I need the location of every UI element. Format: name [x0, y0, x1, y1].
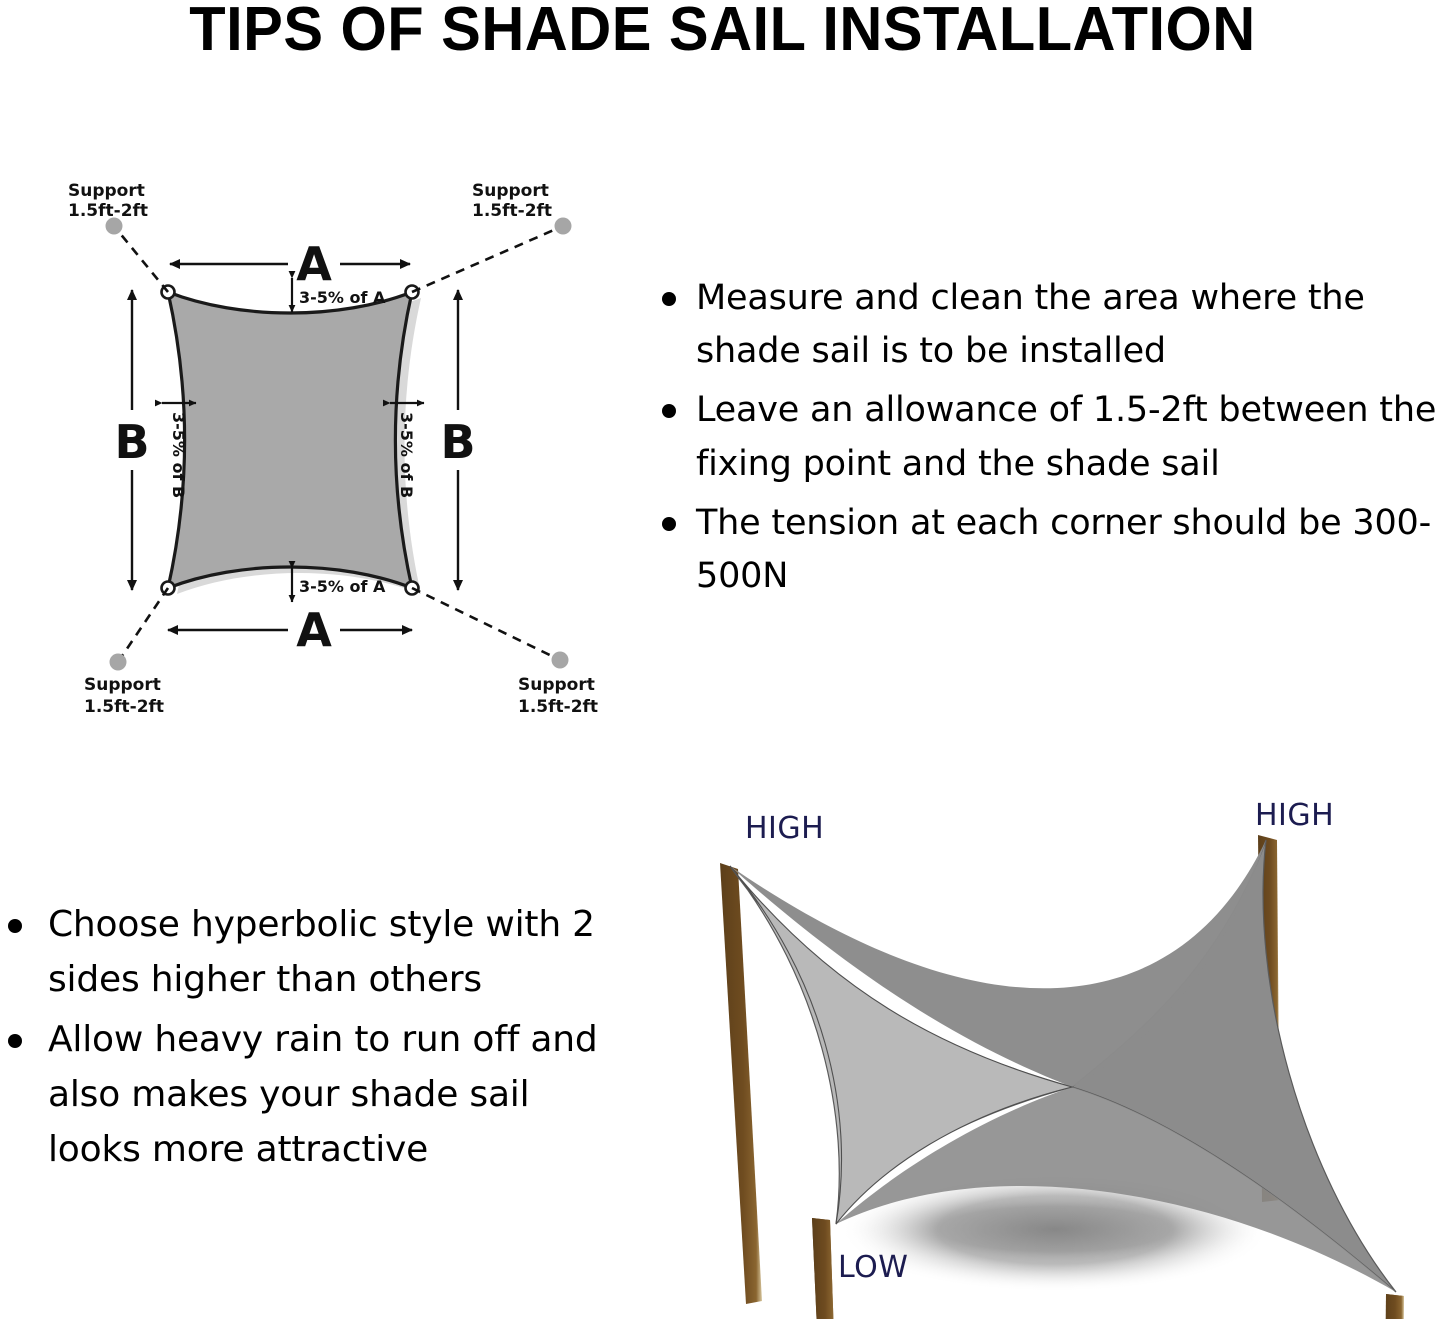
tips-list-left: Choose hyperbolic style with 2 sides hig…: [2, 898, 622, 1184]
post-label-high-right: HIGH: [1255, 798, 1334, 833]
curve-label-top: 3-5% of A: [299, 288, 386, 307]
infographic-root: TIPS OF SHADE SAIL INSTALLATION: [0, 0, 1445, 1319]
page-title: TIPS OF SHADE SAIL INSTALLATION: [29, 0, 1416, 62]
support-label-bottom-left-line1: Support: [84, 675, 161, 695]
square-sail-diagram: Support 1.5ft-2ft Support 1.5ft-2ft Supp…: [40, 160, 640, 740]
tension-line-top-left: [114, 226, 168, 292]
curve-label-bottom: 3-5% of A: [299, 577, 386, 596]
post-front-left-front: [812, 1218, 836, 1319]
anchor-dot-bottom-left: [110, 654, 127, 671]
post-back-left: [720, 863, 762, 1304]
support-label-top-right-line1: Support: [472, 181, 549, 201]
support-label-bottom-right-line2: 1.5ft-2ft: [518, 697, 598, 717]
anchor-dot-bottom-right: [552, 652, 569, 669]
support-label-bottom-right-line1: Support: [518, 675, 595, 695]
tension-line-top-right: [412, 226, 563, 292]
dim-label-right-B: B: [440, 415, 475, 469]
curve-label-right: 3-5% of B: [397, 412, 416, 498]
dim-label-left-B: B: [114, 415, 149, 469]
support-label-top-left-line2: 1.5ft-2ft: [68, 201, 148, 221]
support-label-top-left-line1: Support: [68, 181, 145, 201]
post-label-low-left: LOW: [838, 1250, 908, 1285]
tip-item: Measure and clean the area where the sha…: [650, 272, 1445, 378]
tension-line-bottom-right: [412, 588, 560, 660]
tension-line-bottom-left: [118, 588, 168, 662]
tip-item: The tension at each corner should be 300…: [650, 497, 1445, 603]
support-label-bottom-left-line2: 1.5ft-2ft: [84, 697, 164, 717]
post-label-high-left: HIGH: [745, 811, 824, 846]
hyperbolic-sail-illustration: HIGH HIGH LOW LOW: [660, 790, 1445, 1319]
shade-sail-shape: [168, 292, 412, 588]
support-label-top-right-line2: 1.5ft-2ft: [472, 201, 552, 221]
anchor-dot-top-right: [555, 218, 572, 235]
dim-label-top-A: A: [296, 237, 332, 291]
post-front-right-front: [1384, 1294, 1404, 1319]
dim-label-bottom-A: A: [296, 603, 332, 657]
tip-item: Choose hyperbolic style with 2 sides hig…: [2, 898, 622, 1007]
tip-item: Leave an allowance of 1.5-2ft between th…: [650, 384, 1445, 490]
curve-label-left: 3-5% of B: [169, 412, 188, 498]
tips-list-right: Measure and clean the area where the sha…: [650, 272, 1445, 609]
tip-item: Allow heavy rain to run off and also mak…: [2, 1013, 622, 1177]
